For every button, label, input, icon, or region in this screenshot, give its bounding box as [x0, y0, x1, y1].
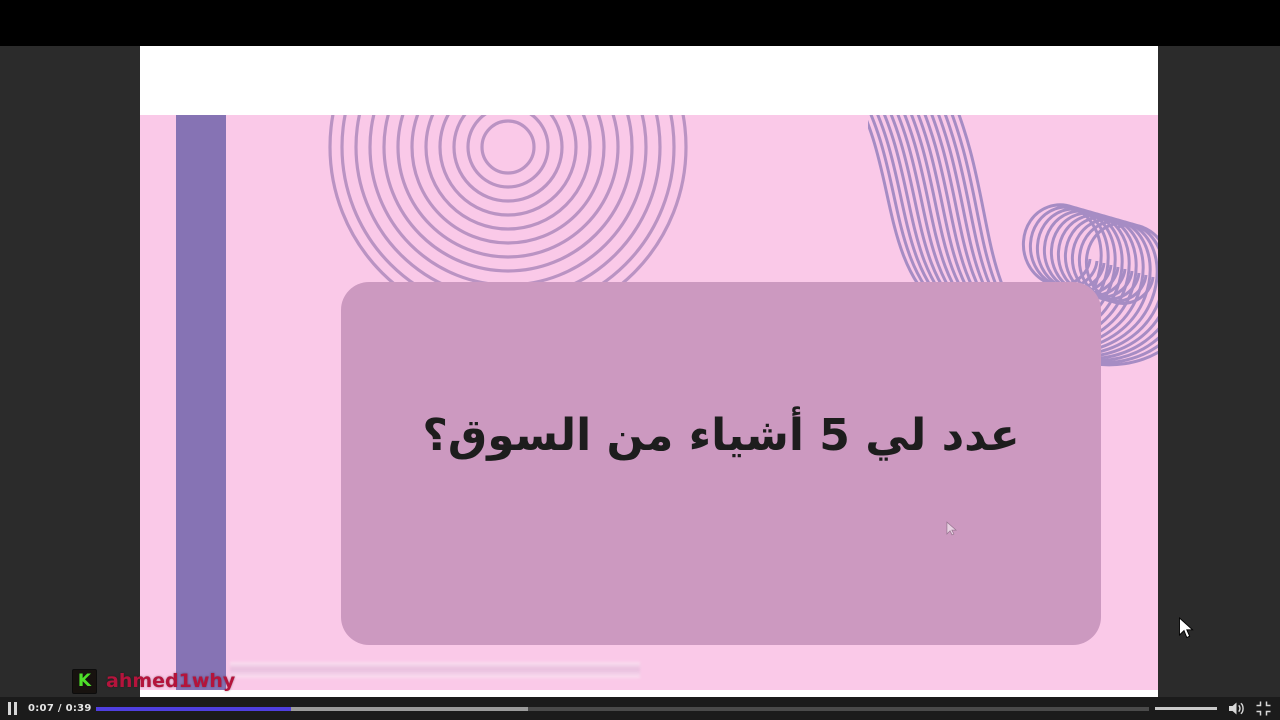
- pause-icon[interactable]: [5, 702, 19, 716]
- watermark-overlay: K ahmed1why: [72, 667, 235, 695]
- kinemaster-logo-icon: K: [72, 669, 97, 694]
- video-player-controls[interactable]: 0:07 / 0:39: [0, 697, 1280, 720]
- pause-bar-left: [8, 702, 11, 715]
- pause-bar-right: [14, 702, 17, 715]
- question-text: عدد لي 5 أشياء من السوق؟: [341, 410, 1101, 461]
- slide-pink-body: عدد لي 5 أشياء من السوق؟: [140, 115, 1158, 690]
- slide-top-white-band: [140, 46, 1158, 115]
- screen: عدد لي 5 أشياء من السوق؟ K ahmed1why: [0, 0, 1280, 720]
- presentation-slide[interactable]: عدد لي 5 أشياء من السوق؟: [140, 46, 1158, 697]
- question-card: عدد لي 5 أشياء من السوق؟: [341, 282, 1101, 645]
- played-progress: [96, 707, 291, 711]
- exit-fullscreen-icon[interactable]: [1256, 701, 1271, 716]
- slide-left-purple-bar: [176, 115, 226, 690]
- blurred-subtitle-band: [230, 662, 640, 678]
- volume-level-fill: [1155, 707, 1217, 710]
- mouse-pointer-icon: [1178, 617, 1194, 639]
- time-display: 0:07 / 0:39: [28, 703, 92, 714]
- watermark-username: ahmed1why: [106, 670, 235, 692]
- progress-track[interactable]: [96, 707, 1149, 711]
- slide-pointer-artifact-icon: [946, 521, 957, 536]
- seek-bar[interactable]: [96, 697, 1149, 720]
- player-right-controls: [1155, 697, 1280, 720]
- volume-slider[interactable]: [1155, 707, 1217, 710]
- kinemaster-logo-letter: K: [78, 673, 91, 690]
- slide-bottom-white-band: [140, 690, 1158, 697]
- player-left-controls: 0:07 / 0:39: [0, 697, 92, 720]
- speaker-icon[interactable]: [1228, 701, 1245, 716]
